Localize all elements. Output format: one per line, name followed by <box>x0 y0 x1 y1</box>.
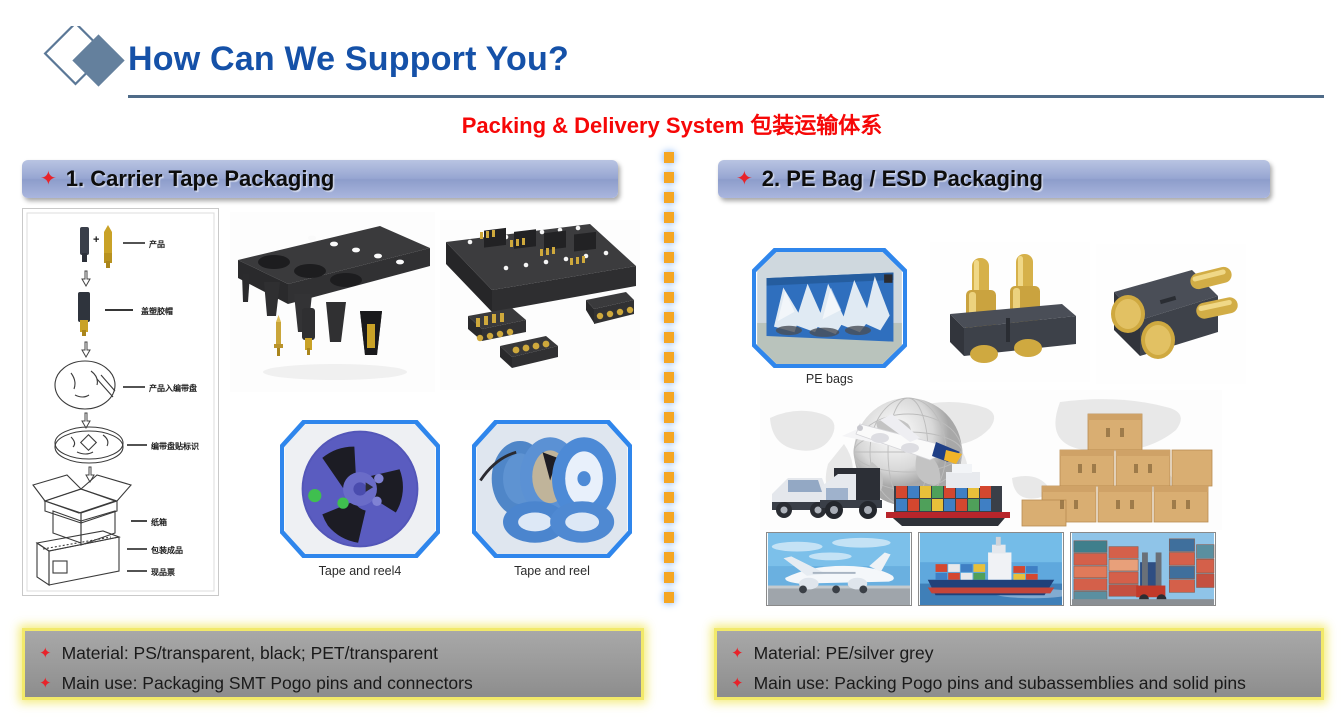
photo-caption: Tape and reel <box>472 564 632 578</box>
section-header-pe-bag[interactable]: ✦ 2. PE Bag / ESD Packaging <box>718 160 1270 198</box>
pogo-pin-side-photo <box>1096 244 1246 384</box>
page-subtitle: Packing & Delivery System 包装运输体系 <box>0 108 1344 140</box>
left-panel: + 产品 盖塑胶帽 <box>22 208 642 608</box>
cargo-airplane-photo <box>766 532 912 606</box>
diamond-bullet-icon: ✦ <box>731 646 744 661</box>
center-dashed-divider <box>664 152 674 612</box>
title-divider-rule <box>128 95 1324 98</box>
diamond-bullet-icon: ✦ <box>736 169 753 189</box>
diamond-bullet-icon: ✦ <box>731 676 744 691</box>
section-label: 1. Carrier Tape Packaging <box>66 166 335 192</box>
photo-caption: PE bags <box>752 372 907 386</box>
flow-label-4: 编带盘贴标识 <box>151 441 199 451</box>
tape-and-reel-single-photo <box>280 420 440 558</box>
global-logistics-graphic <box>760 390 1222 530</box>
note-row: ✦ Main use: Packaging SMT Pogo pins and … <box>39 668 631 698</box>
note-box-pe-bag: ✦ Material: PE/silver grey ✦ Main use: P… <box>714 628 1324 700</box>
page-title: How Can We Support You? <box>128 40 569 79</box>
carrier-tape-connectors-photo <box>440 220 640 390</box>
flow-label-3: 产品入编带盘 <box>149 383 197 393</box>
note-box-carrier-tape: ✦ Material: PS/transparent, black; PET/t… <box>22 628 644 700</box>
carrier-tape-flow-diagram: + 产品 盖塑胶帽 <box>22 208 219 596</box>
section-label: 2. PE Bag / ESD Packaging <box>762 166 1043 192</box>
flow-label-1: 产品 <box>149 239 165 249</box>
pogo-pin-dual-photo <box>930 242 1090 382</box>
note-text: Material: PE/silver grey <box>754 643 934 664</box>
section-header-carrier-tape[interactable]: ✦ 1. Carrier Tape Packaging <box>22 160 618 198</box>
flow-label-7: 现品票 <box>151 567 175 577</box>
flow-label-6: 包装成品 <box>150 545 183 555</box>
tape-and-reel-stack-photo <box>472 420 632 558</box>
note-text: Main use: Packaging SMT Pogo pins and co… <box>62 673 473 694</box>
diamond-bullet-icon: ✦ <box>39 646 52 661</box>
note-text: Material: PS/transparent, black; PET/tra… <box>62 643 438 664</box>
flow-label-5: 纸箱 <box>151 517 167 527</box>
diamond-bullet-icon: ✦ <box>40 169 57 189</box>
note-text: Main use: Packing Pogo pins and subassem… <box>754 673 1246 694</box>
subtitle-english: Packing & Delivery System <box>462 113 751 138</box>
pe-bags-photo <box>752 248 907 368</box>
flow-label-2: 盖塑胶帽 <box>141 306 173 316</box>
right-panel: PE bags <box>718 208 1322 608</box>
svg-text:+: + <box>93 234 99 246</box>
container-ship-photo <box>918 532 1064 606</box>
double-diamond-logo-icon <box>42 26 134 100</box>
diamond-bullet-icon: ✦ <box>39 676 52 691</box>
note-row: ✦ Material: PS/transparent, black; PET/t… <box>39 638 631 668</box>
note-row: ✦ Material: PE/silver grey <box>731 638 1311 668</box>
note-row: ✦ Main use: Packing Pogo pins and subass… <box>731 668 1311 698</box>
container-yard-photo <box>1070 532 1216 606</box>
photo-caption: Tape and reel4 <box>280 564 440 578</box>
subtitle-chinese: 包装运输体系 <box>750 114 882 139</box>
carrier-tape-pockets-photo <box>230 212 435 392</box>
slide-root: How Can We Support You? Packing & Delive… <box>0 0 1344 721</box>
